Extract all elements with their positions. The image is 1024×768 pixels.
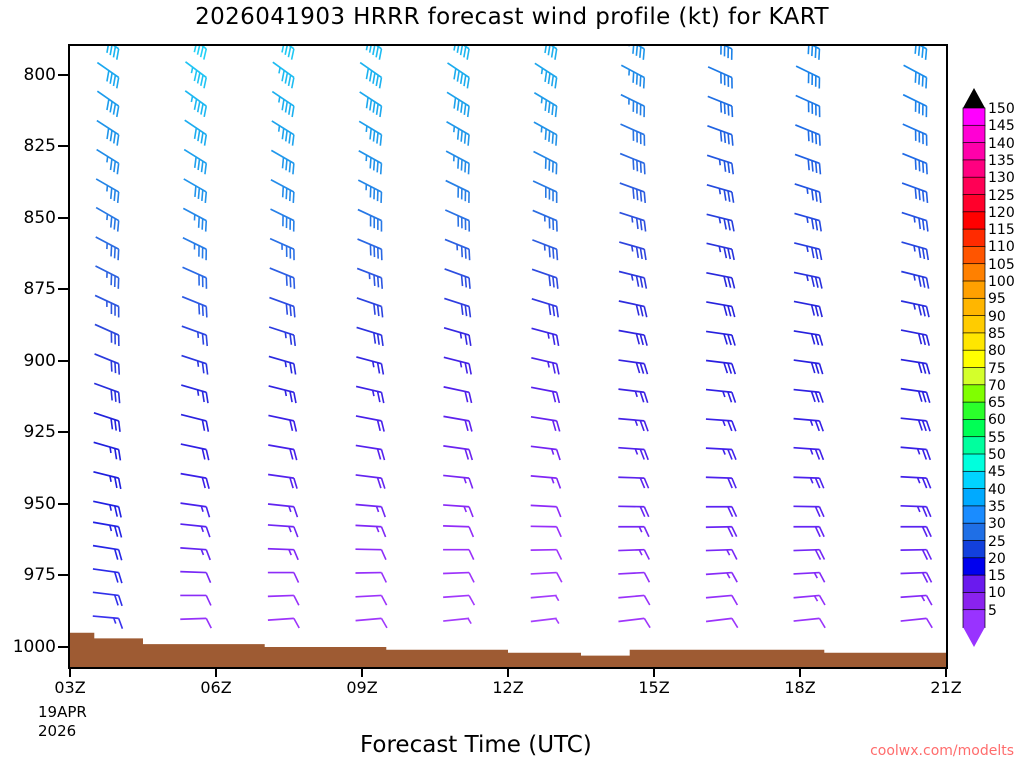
colorbar-swatch [963, 281, 985, 299]
colorbar-tick-label: 105 [988, 257, 1015, 273]
y-tick-label: 800 [24, 65, 56, 85]
colorbar-tick-label: 70 [988, 378, 1006, 394]
page-title: 2026041903 HRRR forecast wind profile (k… [0, 4, 1024, 30]
colorbar-tick-label: 20 [988, 551, 1006, 567]
colorbar-swatch [963, 212, 985, 230]
y-tick-label: 825 [24, 136, 56, 156]
colorbar-tick-label: 115 [988, 222, 1015, 238]
colorbar-tick-label: 90 [988, 309, 1006, 325]
x-tick-mark [799, 669, 801, 677]
colorbar-tick-label: 10 [988, 585, 1006, 601]
colorbar-tick-label: 15 [988, 568, 1006, 584]
colorbar-swatch [963, 333, 985, 351]
colorbar-tick-label: 30 [988, 516, 1006, 532]
colorbar-tick-label: 5 [988, 603, 997, 619]
y-tick-label: 875 [24, 279, 56, 299]
colorbar-swatch [963, 471, 985, 489]
x-tick-label: 21Z [930, 678, 961, 697]
x-tick-label: 06Z [200, 678, 231, 697]
colorbar-swatch [963, 437, 985, 455]
colorbar-swatch [963, 350, 985, 368]
colorbar-swatch [963, 316, 985, 334]
terrain-layer [70, 46, 946, 667]
colorbar-tick-label: 40 [988, 482, 1006, 498]
colorbar-tick-label: 135 [988, 153, 1015, 169]
colorbar-swatch [963, 489, 985, 507]
colorbar-swatch [963, 298, 985, 316]
plot-area [68, 44, 948, 669]
y-tick-label: 950 [24, 494, 56, 514]
colorbar-tick-label: 60 [988, 412, 1006, 428]
colorbar-swatch [963, 541, 985, 559]
y-tick-label: 925 [24, 422, 56, 442]
colorbar-swatch [963, 385, 985, 403]
colorbar-swatch [963, 523, 985, 541]
x-tick-mark [361, 669, 363, 677]
y-tick-label: 1000 [13, 637, 56, 657]
y-tick-label: 900 [24, 351, 56, 371]
colorbar-swatch [963, 610, 985, 628]
watermark-link[interactable]: coolwx.com/modelts [870, 743, 1014, 759]
colorbar-tick-label: 150 [988, 101, 1015, 117]
y-tick-label: 975 [24, 565, 56, 585]
colorbar-swatch [963, 402, 985, 420]
colorbar-tick-label: 35 [988, 499, 1006, 515]
x-tick-mark [507, 669, 509, 677]
colorbar-swatch [963, 125, 985, 143]
x-tick-mark [215, 669, 217, 677]
colorbar-swatch [963, 177, 985, 195]
date-month-day: 19APR [38, 703, 87, 722]
x-tick-mark [945, 669, 947, 677]
colorbar-bottom-arrow-icon [963, 627, 985, 647]
x-tick-mark [653, 669, 655, 677]
colorbar-top-arrow-icon [963, 88, 985, 108]
colorbar-swatch [963, 506, 985, 524]
colorbar-swatch [963, 368, 985, 386]
colorbar-tick-label: 55 [988, 430, 1006, 446]
colorbar-swatch [963, 229, 985, 247]
colorbar-swatch [963, 454, 985, 472]
colorbar-tick-label: 65 [988, 395, 1006, 411]
colorbar-swatch [963, 160, 985, 178]
colorbar-swatch [963, 246, 985, 264]
colorbar-tick-label: 45 [988, 464, 1006, 480]
colorbar-tick-label: 100 [988, 274, 1015, 290]
colorbar-swatches [962, 88, 986, 647]
colorbar-swatch [963, 558, 985, 576]
colorbar-tick-label: 145 [988, 118, 1015, 134]
colorbar-tick-label: 25 [988, 534, 1006, 550]
colorbar-tick-label: 80 [988, 343, 1006, 359]
colorbar-swatch [963, 108, 985, 126]
colorbar-tick-label: 120 [988, 205, 1015, 221]
colorbar-swatch [963, 575, 985, 593]
date-stamp: 19APR 2026 [38, 703, 87, 741]
colorbar-swatch [963, 143, 985, 161]
x-tick-label: 12Z [492, 678, 523, 697]
colorbar-tick-label: 75 [988, 361, 1006, 377]
colorbar-tick-label: 125 [988, 188, 1015, 204]
x-tick-label: 15Z [638, 678, 669, 697]
colorbar-tick-label: 50 [988, 447, 1006, 463]
x-tick-label: 09Z [346, 678, 377, 697]
wind-profile-chart-page: 2026041903 HRRR forecast wind profile (k… [0, 0, 1024, 768]
colorbar-swatch [963, 419, 985, 437]
date-year: 2026 [38, 722, 87, 741]
colorbar-legend: 1501451401351301251201151101051009590858… [962, 88, 986, 651]
colorbar-tick-label: 95 [988, 291, 1006, 307]
y-tick-label: 850 [24, 208, 56, 228]
colorbar-swatch [963, 195, 985, 213]
colorbar-tick-label: 140 [988, 136, 1015, 152]
colorbar-tick-label: 130 [988, 170, 1015, 186]
x-tick-mark [69, 669, 71, 677]
x-axis-title: Forecast Time (UTC) [360, 732, 592, 758]
terrain-fill [70, 633, 946, 667]
colorbar-swatch [963, 264, 985, 282]
colorbar-tick-label: 85 [988, 326, 1006, 342]
x-tick-label: 03Z [54, 678, 85, 697]
colorbar-swatch [963, 592, 985, 610]
x-tick-label: 18Z [784, 678, 815, 697]
colorbar-tick-label: 110 [988, 239, 1015, 255]
